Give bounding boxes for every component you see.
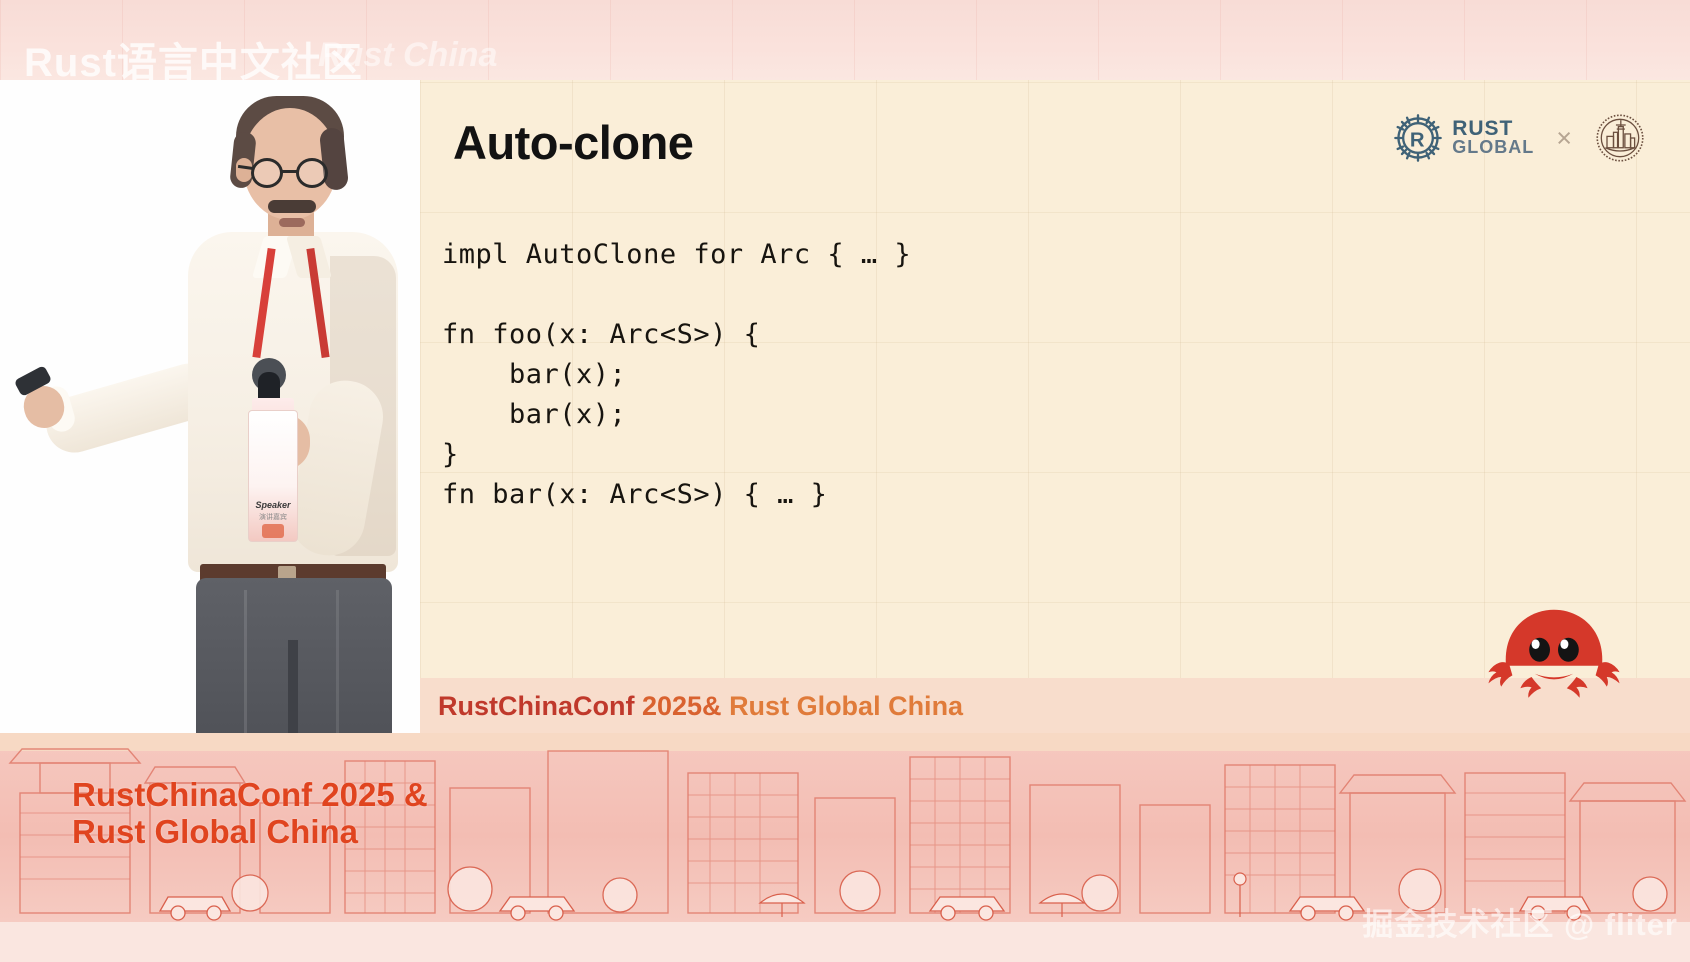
eyeglasses-right-lens-icon (296, 158, 328, 188)
code-block: impl AutoClone for Arc { … } fn foo(x: A… (442, 235, 911, 515)
speaker-ear (236, 158, 252, 182)
trouser-crease-right (336, 590, 339, 733)
speaker-badge (248, 410, 298, 542)
slide-logo-group: R RUST GLOBAL × (1393, 112, 1646, 164)
speaker-mouth (279, 218, 305, 227)
trouser-leg-gap (288, 640, 298, 733)
svg-text:R: R (1410, 130, 1425, 152)
speaker-figure: Speaker 演讲嘉宾 (0, 80, 420, 733)
footer-conf-name: RustChinaConf (438, 691, 642, 721)
rust-global-line2: GLOBAL (1452, 139, 1534, 156)
banner-title-line2: Rust Global China (72, 814, 428, 851)
top-pink-band: Rust语言中文社区 Rust China (0, 0, 1690, 80)
slide-title: Auto-clone (453, 115, 693, 170)
speaker-badge-title: Speaker (252, 500, 294, 510)
video-frame: Rust语言中文社区 Rust China Speaker 演讲嘉宾 (0, 0, 1690, 962)
speaker-moustache (268, 200, 316, 213)
rust-global-line1: RUST (1452, 119, 1534, 139)
footer-conf-year: 2025& (642, 691, 729, 721)
footer-conf-global: Rust Global China (729, 691, 963, 721)
presentation-slide: Auto-clone impl AutoClone for Arc { … } … (420, 80, 1690, 733)
speaker-camera-panel: Speaker 演讲嘉宾 (0, 80, 420, 733)
slide-footer-text: RustChinaConf 2025& Rust Global China (438, 691, 963, 722)
eyeglasses-bridge (282, 170, 298, 173)
ferris-crab-mascot-icon (1474, 597, 1634, 701)
trouser-crease-left (244, 590, 247, 733)
rust-global-wordmark: RUST GLOBAL (1452, 119, 1534, 156)
bottom-watermark-text: 掘金技术社区 @ fliter (1362, 899, 1678, 944)
shanghai-skyline-badge-icon (1594, 112, 1646, 164)
speaker-badge-logo-icon (262, 524, 284, 538)
eyeglasses-left-lens-icon (251, 158, 283, 188)
banner-conference-title: RustChinaConf 2025 & Rust Global China (72, 777, 428, 851)
top-watermark-subtext: Rust China (318, 36, 497, 75)
rust-gear-logo-icon: R (1393, 113, 1443, 163)
speaker-badge-subtitle: 演讲嘉宾 (250, 512, 296, 522)
top-watermark-text: Rust语言中文社区 (24, 30, 363, 80)
rust-global-logo: R RUST GLOBAL (1393, 113, 1534, 163)
banner-title-line1: RustChinaConf 2025 & (72, 777, 428, 814)
logo-separator-x-icon: × (1556, 123, 1572, 154)
conference-bottom-banner: RustChinaConf 2025 & Rust Global China 掘… (0, 733, 1690, 962)
